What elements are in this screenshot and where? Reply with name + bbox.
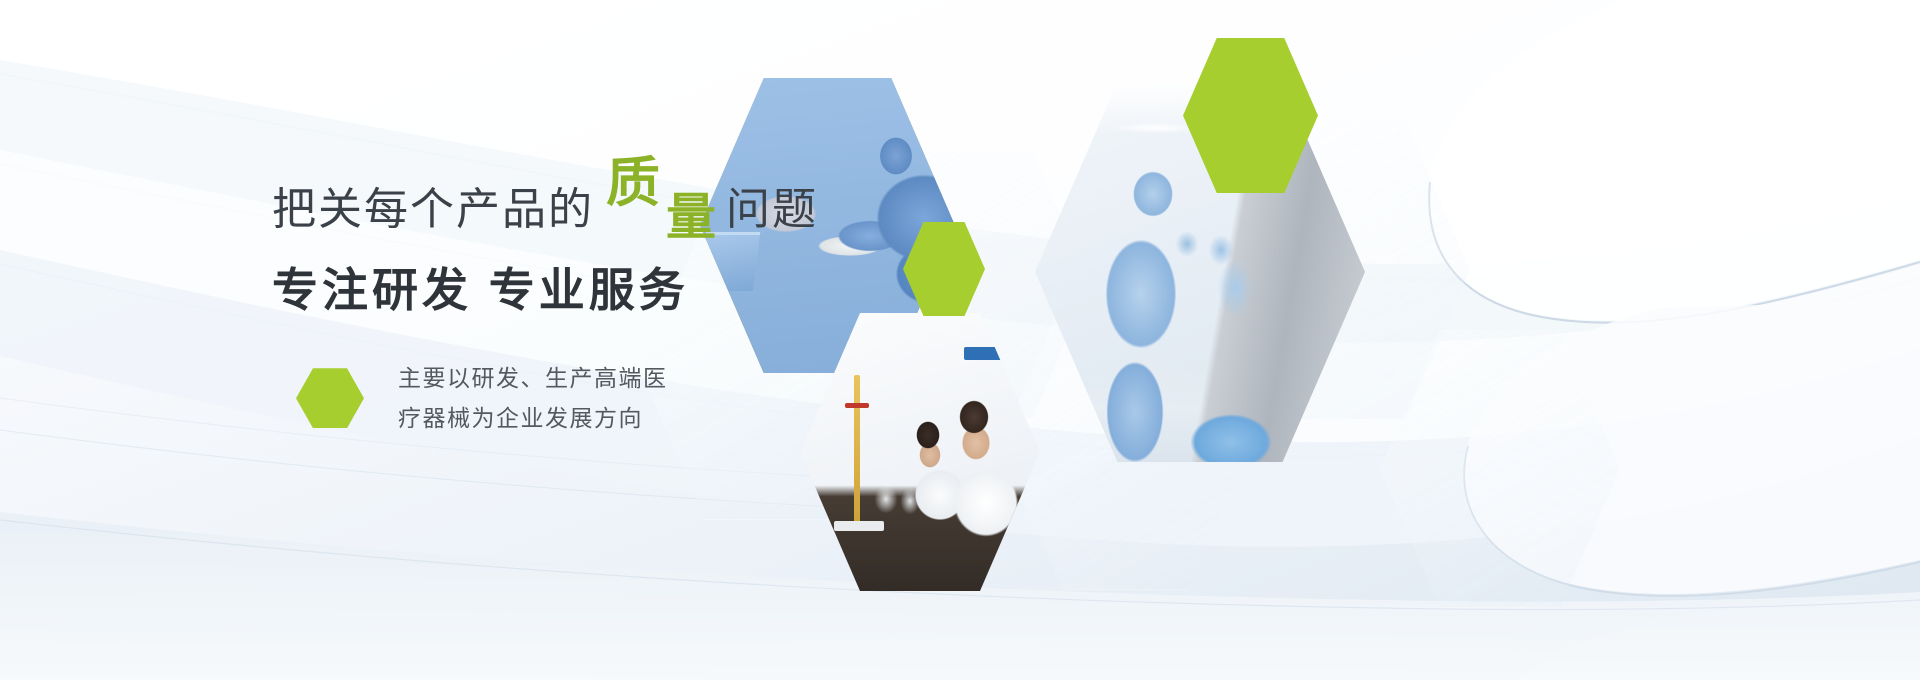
description-text: 主要以研发、生产高端医 疗器械为企业发展方向: [398, 358, 668, 439]
stand-foot: [834, 521, 884, 531]
headline-suffix: 问题: [726, 188, 818, 232]
description-group: 主要以研发、生产高端医 疗器械为企业发展方向: [296, 358, 668, 439]
description-line-2: 疗器械为企业发展方向: [398, 398, 668, 438]
headline-highlight-first: 质: [606, 156, 662, 210]
hero-banner: 把关每个产品的 质 量 问题 专注研发 专业服务 主要以研发、生产高端医 疗器械…: [0, 0, 1920, 680]
headline-line-1: 把关每个产品的 质 量 问题: [272, 178, 818, 232]
headline-prefix: 把关每个产品的: [272, 188, 594, 232]
burette-stand: [854, 375, 860, 525]
description-line-1: 主要以研发、生产高端医: [398, 358, 668, 398]
headline-group: 把关每个产品的 质 量 问题 专注研发 专业服务: [272, 178, 818, 320]
headline-highlight-second: 量: [666, 192, 718, 242]
accent-hex-description-bullet: [296, 368, 364, 428]
subheadline: 专注研发 专业服务: [272, 254, 818, 320]
